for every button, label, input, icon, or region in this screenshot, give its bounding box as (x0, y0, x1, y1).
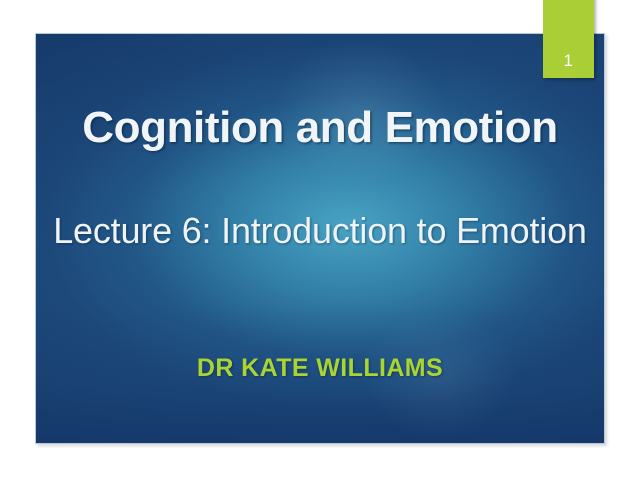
presentation-slide: 1 Cognition and Emotion Lecture 6: Intro… (0, 0, 640, 480)
slide-number-tab: 1 (543, 0, 594, 78)
slide-title: Cognition and Emotion (43, 105, 597, 151)
slide-text-area: Cognition and Emotion Lecture 6: Introdu… (35, 33, 605, 444)
slide-number-label: 1 (543, 52, 594, 69)
slide-subtitle: Lecture 6: Introduction to Emotion (53, 208, 587, 253)
slide-author: DR KATE WILLIAMS (53, 355, 587, 383)
